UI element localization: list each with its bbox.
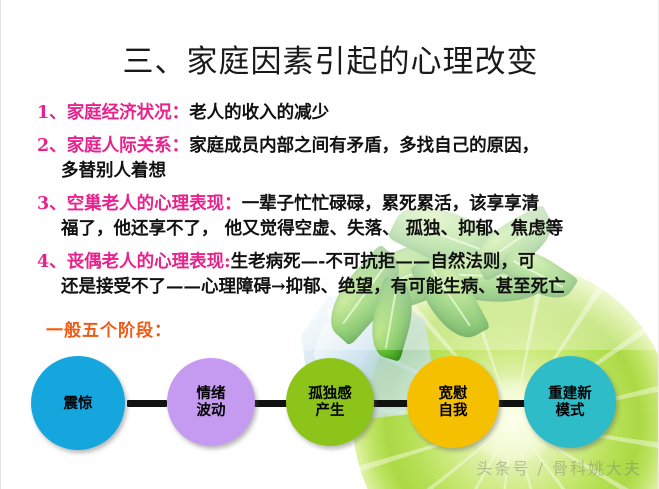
list-item-heading: 家庭人际关系： — [67, 136, 190, 156]
list-item-body: 生老病死—-不可抗拒——自然法则，可 — [231, 252, 536, 272]
list-item-heading: 空巢老人的心理表现： — [67, 194, 242, 214]
stage-node-label: 重建新 模式 — [548, 385, 592, 419]
list-item: 3、空巢老人的心理表现：一辈子忙忙碌碌，累死累活，该享享清 福了，他还享不了， … — [37, 192, 637, 242]
stage-connector — [253, 400, 287, 407]
stage-connector — [371, 400, 409, 407]
stage-node-3[interactable]: 孤独感 产生 — [286, 358, 374, 446]
list-item-body: 家庭成员内部之间有矛盾，多找自己的原因， — [189, 136, 539, 156]
slide-title: 三、家庭因素引起的心理改变 — [1, 36, 659, 81]
list-item: 4、丧偶老人的心理表现:生老病死—-不可抗拒——自然法则，可 还是接受不了——心… — [37, 250, 637, 300]
stage-flow-diagram: 震惊 情绪 波动 孤独感 产生 宽慰 自我 重建新 模式 — [27, 354, 637, 454]
stage-connector — [127, 400, 167, 407]
list-item-body-continued: 还是接受不了——心理障碍→抑郁、绝望，有可能生病、甚至死亡 — [37, 275, 637, 300]
list-item-heading: 家庭经济状况： — [67, 103, 190, 123]
stage-connector — [495, 400, 527, 407]
stage-node-label: 孤独感 产生 — [308, 385, 352, 419]
list-item-body: 老人的收入的减少 — [189, 103, 329, 123]
stage-node-5[interactable]: 重建新 模式 — [524, 356, 616, 448]
stage-node-label: 震惊 — [64, 395, 93, 412]
stage-node-label-line1: 重建新 — [548, 385, 592, 402]
stage-node-4[interactable]: 宽慰 自我 — [407, 356, 499, 448]
slide-canvas: 三、家庭因素引起的心理改变 1、家庭经济状况：老人的收入的减少 2、家庭人际关系… — [0, 0, 659, 489]
stage-node-label-line2: 波动 — [197, 402, 226, 419]
ice-highlight — [327, 300, 367, 326]
stage-node-label-line2: 自我 — [439, 402, 468, 419]
stage-node-label: 情绪 波动 — [197, 385, 226, 419]
list-item-heading: 丧偶老人的心理表现: — [67, 252, 231, 272]
stages-caption: 一般五个阶段： — [46, 316, 172, 341]
list-item: 1、家庭经济状况：老人的收入的减少 — [37, 101, 637, 126]
list-item-body: 一辈子忙忙碌碌，累死累活，该享享清 — [242, 194, 540, 214]
stage-node-label-line2: 模式 — [556, 402, 585, 419]
list-item-number: 4、 — [37, 252, 67, 272]
stage-node-2[interactable]: 情绪 波动 — [167, 358, 255, 446]
list-item-number: 3、 — [37, 194, 67, 214]
stage-node-label-line1: 孤独感 — [308, 385, 352, 402]
stage-node-1[interactable]: 震惊 — [31, 356, 125, 450]
stage-node-label: 宽慰 自我 — [439, 385, 468, 419]
content-list: 1、家庭经济状况：老人的收入的减少 2、家庭人际关系：家庭成员内部之间有矛盾，多… — [37, 101, 637, 300]
stage-node-label-line1: 宽慰 — [439, 385, 468, 402]
list-item-body-continued: 福了，他还享不了， 他又觉得空虚、失落、 孤独、抑郁、焦虑等 — [37, 217, 637, 242]
list-item-number: 1、 — [37, 103, 67, 123]
stage-node-label-line1: 情绪 — [197, 385, 226, 402]
watermark: 头条号 / 骨科姚大夫 — [476, 455, 642, 479]
list-item: 2、家庭人际关系：家庭成员内部之间有矛盾，多找自己的原因， 多替别人着想 — [37, 134, 637, 184]
list-item-number: 2、 — [37, 136, 67, 156]
stage-node-label-line2: 产生 — [316, 402, 345, 419]
list-item-body-continued: 多替别人着想 — [37, 159, 637, 184]
